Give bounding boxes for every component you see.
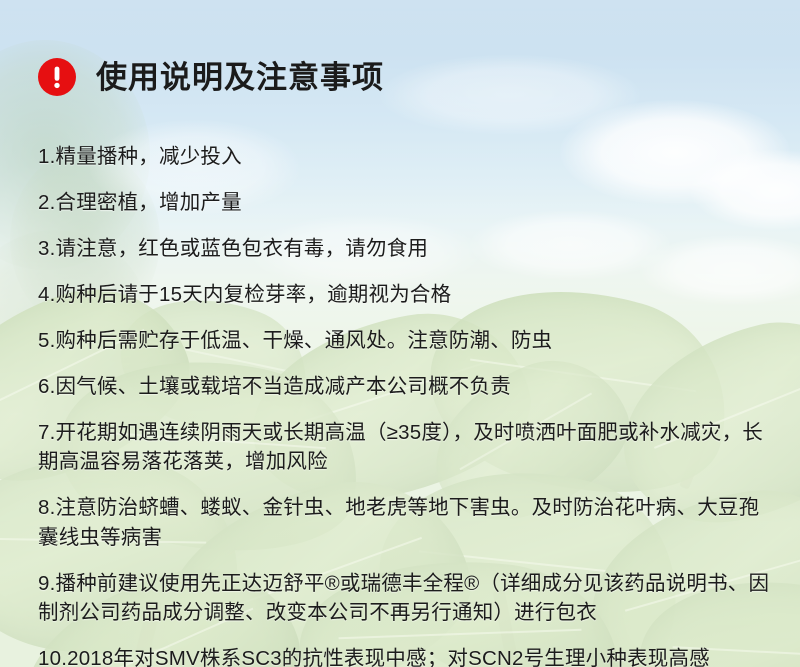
list-item: 4.购种后请于15天内复检芽率，逾期视为合格 <box>38 280 770 309</box>
list-item: 6.因气候、土壤或载培不当造成减产本公司概不负责 <box>38 372 770 401</box>
instructions-list: 1.精量播种，减少投入 2.合理密植，增加产量 3.请注意，红色或蓝色包衣有毒，… <box>0 114 800 667</box>
list-item: 10.2018年对SMV株系SC3的抗性表现中感；对SCN2号生理小种表现高感 <box>38 644 770 667</box>
poster-header: 使用说明及注意事项 <box>0 0 800 114</box>
list-item: 9.播种前建议使用先正达迈舒平®或瑞德丰全程®（详细成分见该药品说明书、因制剂公… <box>38 569 770 627</box>
list-item: 7.开花期如遇连续阴雨天或长期高温（≥35度），及时喷洒叶面肥或补水减灾，长期高… <box>38 418 770 476</box>
list-item: 8.注意防治蛴螬、蝼蚁、金针虫、地老虎等地下害虫。及时防治花叶病、大豆孢囊线虫等… <box>38 493 770 551</box>
page-title: 使用说明及注意事项 <box>96 62 384 93</box>
poster-content: 使用说明及注意事项 1.精量播种，减少投入 2.合理密植，增加产量 3.请注意，… <box>0 0 800 667</box>
instructions-poster: 使用说明及注意事项 1.精量播种，减少投入 2.合理密植，增加产量 3.请注意，… <box>0 0 800 667</box>
list-item: 2.合理密植，增加产量 <box>38 188 770 217</box>
list-item: 5.购种后需贮存于低温、干燥、通风处。注意防潮、防虫 <box>38 326 770 355</box>
list-item: 1.精量播种，减少投入 <box>38 142 770 171</box>
list-item: 3.请注意，红色或蓝色包衣有毒，请勿食用 <box>38 234 770 263</box>
warning-exclamation-icon <box>38 58 76 96</box>
